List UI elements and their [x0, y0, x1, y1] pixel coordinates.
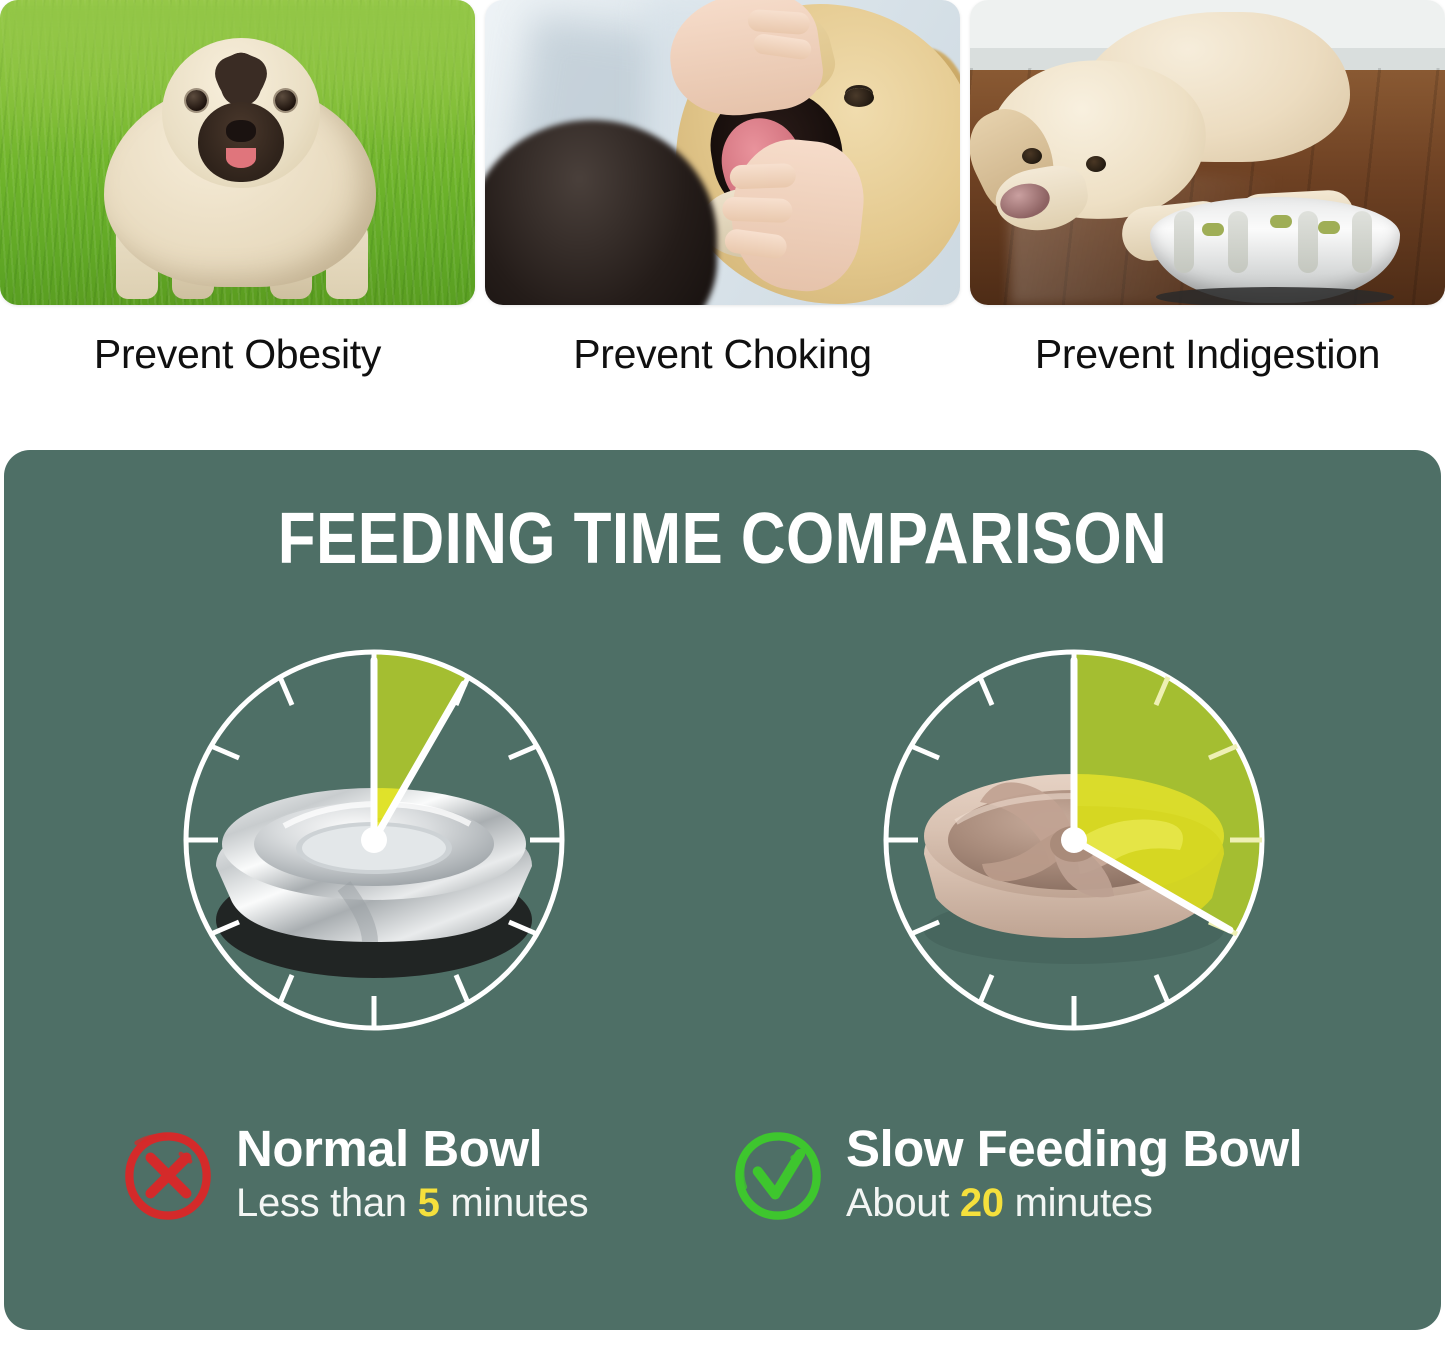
verdict-sub-suffix-normal: minutes — [440, 1181, 589, 1225]
finger-4 — [722, 197, 793, 223]
bowl-ridge-2 — [1228, 211, 1248, 273]
benefit-card-indigestion: Prevent Indigestion — [970, 0, 1445, 378]
metal-food-bowl — [1150, 197, 1400, 303]
finger-1 — [747, 9, 810, 35]
verdict-sub-prefix-slow: About — [846, 1181, 960, 1225]
pug-eye-right — [275, 90, 296, 111]
check-circle-icon — [732, 1130, 824, 1222]
photo-dog-indigestion — [970, 0, 1445, 305]
infographic-page: Prevent Obesity — [0, 0, 1445, 1353]
verdict-sub-value-slow: 20 — [960, 1181, 1004, 1225]
verdict-sub-suffix-slow: minutes — [1004, 1181, 1153, 1225]
pug-figure — [96, 30, 386, 295]
feeding-time-comparison-panel: FEEDING TIME COMPARISON — [4, 450, 1441, 1330]
labrador-eye-right — [1086, 156, 1106, 172]
kibble-2 — [1270, 215, 1292, 228]
clock-dial-slow-feeding-bowl — [864, 630, 1284, 1050]
benefits-strip: Prevent Obesity — [0, 0, 1445, 430]
bowl-ridge-1 — [1174, 211, 1194, 273]
kibble-1 — [1202, 223, 1224, 236]
finger-2 — [752, 33, 812, 61]
bowl-ridge-3 — [1298, 211, 1318, 273]
pug-eye-left — [186, 90, 207, 111]
verdict-sub-value-normal: 5 — [418, 1181, 440, 1225]
benefit-label-choking: Prevent Choking — [485, 331, 960, 378]
verdict-title-normal-bowl: Normal Bowl — [236, 1122, 588, 1175]
kibble-3 — [1318, 221, 1340, 234]
pug-nose — [226, 120, 256, 142]
labrador-eye-left — [1022, 148, 1042, 164]
verdict-sub-prefix-normal: Less than — [236, 1181, 418, 1225]
photo-dog-choking — [485, 0, 960, 305]
verdict-slow-feeding-bowl: Slow Feeding Bowl About 20 minutes — [732, 1122, 1302, 1226]
benefit-label-obesity: Prevent Obesity — [0, 331, 475, 378]
clock-dial-normal-bowl — [164, 630, 584, 1050]
benefit-card-obesity: Prevent Obesity — [0, 0, 475, 378]
verdict-text-slow-feeding-bowl: Slow Feeding Bowl About 20 minutes — [846, 1122, 1302, 1226]
bowl-ridge-4 — [1352, 211, 1372, 273]
cross-circle-icon — [122, 1130, 214, 1222]
verdict-text-normal-bowl: Normal Bowl Less than 5 minutes — [236, 1122, 588, 1226]
verdict-subtitle-normal-bowl: Less than 5 minutes — [236, 1181, 588, 1226]
verdict-subtitle-slow-feeding-bowl: About 20 minutes — [846, 1181, 1302, 1226]
verdict-title-slow-feeding-bowl: Slow Feeding Bowl — [846, 1122, 1302, 1175]
verdict-normal-bowl: Normal Bowl Less than 5 minutes — [122, 1122, 588, 1226]
benefit-card-choking: Prevent Choking — [485, 0, 960, 378]
bowl-rubber-ring — [1156, 287, 1394, 305]
photo-fat-pug — [0, 0, 475, 305]
pug-head — [162, 38, 320, 188]
pug-tongue — [226, 148, 256, 168]
verdict-row-group: Normal Bowl Less than 5 minutes Slow Fee… — [4, 1122, 1441, 1297]
finger-3 — [729, 163, 796, 189]
retriever-eye — [844, 88, 874, 107]
pug-muzzle — [198, 102, 284, 182]
benefit-label-indigestion: Prevent Indigestion — [970, 331, 1445, 378]
